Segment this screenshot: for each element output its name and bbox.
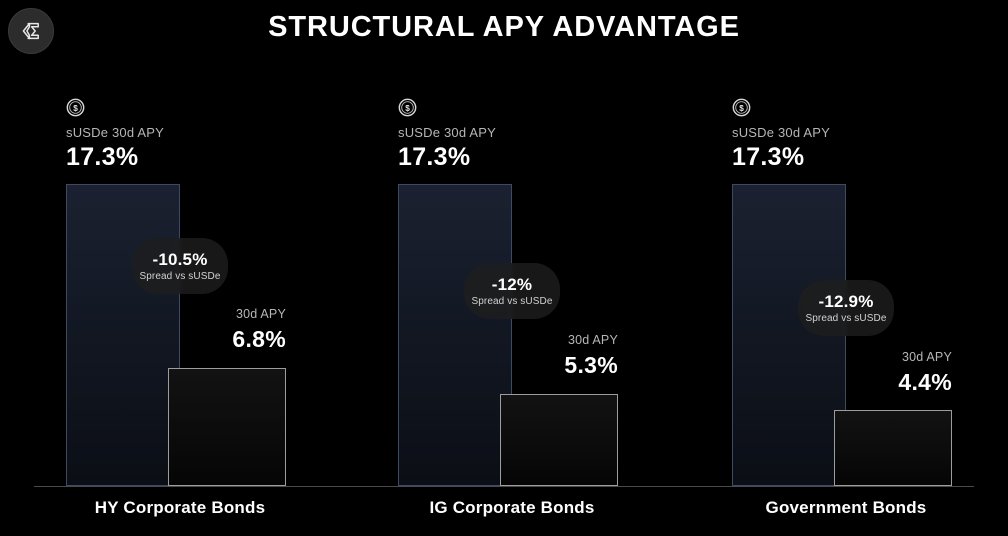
primary-metric-label: sUSDe 30d APY: [732, 125, 830, 140]
stablecoin-dollar-coin-icon: $: [398, 98, 417, 117]
spread-badge[interactable]: -12.9% Spread vs sUSDe: [798, 280, 894, 336]
svg-text:$: $: [739, 104, 744, 113]
spread-badge[interactable]: -12% Spread vs sUSDe: [464, 263, 560, 319]
primary-metric-value: 17.3%: [732, 143, 830, 172]
spread-caption: Spread vs sUSDe: [140, 270, 221, 283]
bar-chart: $ sUSDe 30d APY 17.3% 30d APY 6.8% -10.5…: [0, 60, 1008, 536]
svg-text:$: $: [405, 104, 410, 113]
spread-value: -12.9%: [818, 292, 873, 311]
slide-canvas: STRUCTURAL APY ADVANTAGE $ sUSDe 30d APY…: [0, 0, 1008, 536]
secondary-metric-value: 6.8%: [150, 325, 286, 354]
category-axis: HY Corporate Bonds IG Corporate Bonds Go…: [0, 498, 1008, 528]
secondary-metric-label: 30d APY: [816, 350, 952, 365]
primary-metric-label: sUSDe 30d APY: [66, 125, 164, 140]
secondary-metric-label: 30d APY: [150, 307, 286, 322]
primary-metric-block: $ sUSDe 30d APY 17.3%: [66, 98, 164, 172]
stablecoin-dollar-coin-icon: $: [66, 98, 85, 117]
bar-group-hy-corporate-bonds: $ sUSDe 30d APY 17.3% 30d APY 6.8% -10.5…: [34, 60, 334, 536]
page-title: STRUCTURAL APY ADVANTAGE: [0, 11, 1008, 44]
secondary-metric-value: 5.3%: [482, 351, 618, 380]
spread-value: -10.5%: [152, 250, 207, 269]
spread-caption: Spread vs sUSDe: [806, 312, 887, 325]
bar-secondary-30d-apy[interactable]: [168, 368, 286, 486]
category-label-hy-corporate-bonds: HY Corporate Bonds: [34, 498, 326, 518]
bar-secondary-30d-apy[interactable]: [500, 394, 618, 486]
svg-text:$: $: [73, 104, 78, 113]
bar-secondary-30d-apy[interactable]: [834, 410, 952, 486]
primary-metric-block: $ sUSDe 30d APY 17.3%: [732, 98, 830, 172]
bar-group-government-bonds: $ sUSDe 30d APY 17.3% 30d APY 4.4% -12.9…: [700, 60, 1000, 536]
spread-value: -12%: [492, 275, 533, 294]
category-label-government-bonds: Government Bonds: [700, 498, 992, 518]
secondary-metric-block: 30d APY 5.3%: [482, 333, 618, 380]
secondary-metric-block: 30d APY 4.4%: [816, 350, 952, 397]
secondary-metric-label: 30d APY: [482, 333, 618, 348]
spread-badge[interactable]: -10.5% Spread vs sUSDe: [132, 238, 228, 294]
category-label-ig-corporate-bonds: IG Corporate Bonds: [366, 498, 658, 518]
primary-metric-block: $ sUSDe 30d APY 17.3%: [398, 98, 496, 172]
bar-group-ig-corporate-bonds: $ sUSDe 30d APY 17.3% 30d APY 5.3% -12% …: [366, 60, 666, 536]
secondary-metric-block: 30d APY 6.8%: [150, 307, 286, 354]
primary-metric-value: 17.3%: [66, 143, 164, 172]
primary-metric-value: 17.3%: [398, 143, 496, 172]
spread-caption: Spread vs sUSDe: [472, 295, 553, 308]
stablecoin-dollar-coin-icon: $: [732, 98, 751, 117]
primary-metric-label: sUSDe 30d APY: [398, 125, 496, 140]
secondary-metric-value: 4.4%: [816, 368, 952, 397]
